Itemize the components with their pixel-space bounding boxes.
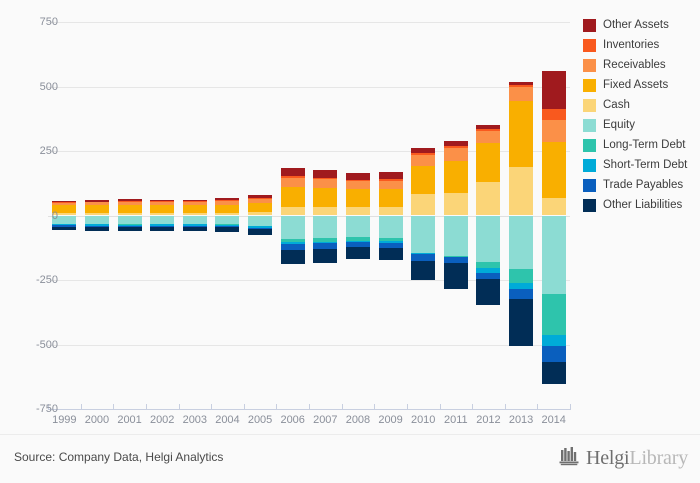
- bar-segment[interactable]: [52, 227, 76, 231]
- x-axis-tick-label: 2014: [541, 414, 565, 426]
- legend-item-label: Cash: [603, 99, 630, 111]
- bar-segment[interactable]: [411, 261, 435, 280]
- x-axis-tick-label: 2008: [346, 414, 370, 426]
- bar-group[interactable]: [411, 22, 435, 409]
- x-axis-tick-label: 2013: [509, 414, 533, 426]
- bar-segment[interactable]: [183, 205, 207, 214]
- bar-segment[interactable]: [281, 187, 305, 207]
- x-axis-tick: [440, 404, 441, 410]
- x-axis: 1999200020012002200320042005200620072008…: [48, 409, 570, 411]
- bar-segment[interactable]: [248, 203, 272, 213]
- bar-segment[interactable]: [346, 181, 370, 189]
- bar-segment[interactable]: [248, 229, 272, 234]
- bar-segment[interactable]: [215, 227, 239, 232]
- stacked-bar[interactable]: [215, 22, 239, 409]
- x-axis-tick: [146, 404, 147, 410]
- x-axis-tick: [374, 404, 375, 410]
- legend-item[interactable]: Equity: [583, 115, 695, 135]
- chart-container: 1999200020012002200320042005200620072008…: [0, 0, 700, 483]
- bar-segment[interactable]: [150, 216, 174, 225]
- x-axis-tick-label: 2002: [150, 414, 174, 426]
- bar-segment[interactable]: [476, 143, 500, 182]
- bar-segment[interactable]: [346, 216, 370, 238]
- x-axis-tick-label: 2001: [117, 414, 141, 426]
- stacked-bar[interactable]: [118, 22, 142, 409]
- x-axis-tick: [407, 404, 408, 410]
- bar-segment[interactable]: [346, 247, 370, 259]
- legend-item[interactable]: Cash: [583, 95, 695, 115]
- legend-item[interactable]: Other Liabilities: [583, 195, 695, 215]
- bar-segment[interactable]: [411, 194, 435, 216]
- bar-segment[interactable]: [476, 131, 500, 143]
- x-axis-tick-label: 2007: [313, 414, 337, 426]
- bar-group[interactable]: [379, 22, 403, 409]
- bar-segment[interactable]: [411, 254, 435, 261]
- bar-segment[interactable]: [379, 248, 403, 260]
- bar-segment[interactable]: [313, 188, 337, 207]
- bar-segment[interactable]: [281, 178, 305, 188]
- x-axis-tick-label: 2004: [215, 414, 239, 426]
- bar-segment[interactable]: [509, 101, 533, 167]
- x-axis-tick-label: 2003: [183, 414, 207, 426]
- source-note: Source: Company Data, Helgi Analytics: [14, 450, 223, 464]
- legend-color-swatch: [583, 19, 596, 32]
- legend-color-swatch: [583, 59, 596, 72]
- bar-segment[interactable]: [476, 216, 500, 263]
- stacked-bar[interactable]: [542, 22, 566, 409]
- stacked-bar[interactable]: [444, 22, 468, 409]
- stacked-bar[interactable]: [313, 22, 337, 409]
- bar-segment[interactable]: [444, 263, 468, 289]
- bar-segment[interactable]: [379, 207, 403, 216]
- bar-group[interactable]: [476, 22, 500, 409]
- x-axis-tick-label: 1999: [52, 414, 76, 426]
- bar-segment[interactable]: [542, 198, 566, 216]
- bar-segment[interactable]: [281, 216, 305, 239]
- bar-segment[interactable]: [313, 207, 337, 215]
- bar-segment[interactable]: [444, 148, 468, 160]
- x-axis-tick: [113, 404, 114, 410]
- x-axis-tick-label: 2012: [476, 414, 500, 426]
- bar-segment[interactable]: [509, 167, 533, 216]
- bar-segment[interactable]: [444, 161, 468, 193]
- brand-name-primary: Helgi: [586, 447, 629, 470]
- legend-item-label: Receivables: [603, 59, 666, 71]
- stacked-bar[interactable]: [346, 22, 370, 409]
- legend-item[interactable]: Long-Term Debt: [583, 135, 695, 155]
- legend-item[interactable]: Other Assets: [583, 15, 695, 35]
- x-axis-tick-label: 2009: [378, 414, 402, 426]
- x-axis-tick: [537, 404, 538, 410]
- x-axis-tick-label: 2006: [280, 414, 304, 426]
- stacked-bar[interactable]: [150, 22, 174, 409]
- bar-segment[interactable]: [542, 335, 566, 346]
- bar-segment[interactable]: [215, 205, 239, 214]
- stacked-bar[interactable]: [183, 22, 207, 409]
- bar-segment[interactable]: [118, 216, 142, 225]
- bar-segment[interactable]: [118, 205, 142, 214]
- legend-item[interactable]: Trade Payables: [583, 175, 695, 195]
- bar-group[interactable]: [542, 22, 566, 409]
- bar-segment[interactable]: [411, 216, 435, 253]
- chart-legend: Other AssetsInventoriesReceivablesFixed …: [583, 15, 695, 215]
- x-axis-tick: [244, 404, 245, 410]
- bar-segment[interactable]: [248, 216, 272, 226]
- bar-group[interactable]: [118, 22, 142, 409]
- legend-item-label: Other Assets: [603, 19, 669, 31]
- bar-segment[interactable]: [542, 216, 566, 295]
- bar-segment[interactable]: [509, 87, 533, 101]
- bar-segment[interactable]: [215, 216, 239, 225]
- bar-segment[interactable]: [346, 189, 370, 207]
- bar-segment[interactable]: [313, 216, 337, 239]
- legend-color-swatch: [583, 199, 596, 212]
- legend-color-swatch: [583, 139, 596, 152]
- bar-segment[interactable]: [346, 207, 370, 215]
- library-logo-icon: [559, 446, 581, 471]
- bar-segment[interactable]: [183, 227, 207, 231]
- bar-group[interactable]: [509, 22, 533, 409]
- x-axis-tick: [211, 404, 212, 410]
- x-axis-tick: [81, 404, 82, 410]
- bar-segment[interactable]: [150, 205, 174, 214]
- x-axis-tick-label: 2000: [85, 414, 109, 426]
- brand-logo: Helgi Library: [559, 446, 688, 471]
- legend-color-swatch: [583, 39, 596, 52]
- bar-segment[interactable]: [313, 179, 337, 188]
- x-axis-tick: [179, 404, 180, 410]
- legend-item-label: Inventories: [603, 39, 659, 51]
- legend-item-label: Other Liabilities: [603, 199, 682, 211]
- legend-color-swatch: [583, 159, 596, 172]
- bar-segment[interactable]: [379, 216, 403, 239]
- bar-segment[interactable]: [509, 299, 533, 347]
- bar-group[interactable]: [313, 22, 337, 409]
- y-axis-tick-label: 250: [0, 145, 58, 157]
- bar-segment[interactable]: [281, 207, 305, 215]
- legend-item[interactable]: Inventories: [583, 35, 695, 55]
- bar-group[interactable]: [444, 22, 468, 409]
- y-axis-tick-label: 750: [0, 16, 58, 28]
- x-axis-tick: [309, 404, 310, 410]
- legend-color-swatch: [583, 79, 596, 92]
- legend-item[interactable]: Receivables: [583, 55, 695, 75]
- bar-segment[interactable]: [542, 71, 566, 110]
- legend-color-swatch: [583, 99, 596, 112]
- bar-segment[interactable]: [85, 205, 109, 214]
- legend-item-label: Equity: [603, 119, 635, 131]
- bar-segment[interactable]: [509, 216, 533, 269]
- legend-color-swatch: [583, 179, 596, 192]
- bar-segment[interactable]: [444, 216, 468, 257]
- x-axis-tick: [276, 404, 277, 410]
- bar-segment[interactable]: [476, 182, 500, 215]
- bar-segment[interactable]: [509, 289, 533, 299]
- x-axis-tick-label: 2010: [411, 414, 435, 426]
- x-axis-tick: [472, 404, 473, 410]
- bar-segment[interactable]: [379, 181, 403, 189]
- bar-group[interactable]: [346, 22, 370, 409]
- bar-segment[interactable]: [183, 216, 207, 225]
- bar-segment[interactable]: [281, 168, 305, 177]
- stacked-bar[interactable]: [509, 22, 533, 409]
- x-axis-tick: [505, 404, 506, 410]
- bar-group[interactable]: [248, 22, 272, 409]
- bar-segment[interactable]: [150, 227, 174, 231]
- stacked-bar[interactable]: [85, 22, 109, 409]
- y-axis-tick-label: -750: [0, 403, 58, 415]
- x-axis-tick: [342, 404, 343, 410]
- bar-group[interactable]: [183, 22, 207, 409]
- bar-segment[interactable]: [411, 166, 435, 194]
- bar-segment[interactable]: [85, 216, 109, 225]
- bar-segment[interactable]: [379, 172, 403, 179]
- bar-segment[interactable]: [411, 155, 435, 167]
- legend-item-label: Short-Term Debt: [603, 159, 687, 171]
- y-axis-tick-label: 0: [0, 210, 58, 222]
- x-axis-tick-label: 2005: [248, 414, 272, 426]
- legend-item-label: Trade Payables: [603, 179, 683, 191]
- y-axis-tick-label: -250: [0, 274, 58, 286]
- bar-segment[interactable]: [444, 193, 468, 216]
- brand-name-secondary: Library: [629, 447, 688, 470]
- stacked-bar[interactable]: [281, 22, 305, 409]
- legend-item[interactable]: Fixed Assets: [583, 75, 695, 95]
- bar-segment[interactable]: [313, 249, 337, 263]
- bar-group[interactable]: [85, 22, 109, 409]
- stacked-bar[interactable]: [248, 22, 272, 409]
- bar-segment[interactable]: [542, 120, 566, 143]
- bar-segment[interactable]: [542, 294, 566, 335]
- plot-area: [48, 22, 570, 409]
- legend-item-label: Fixed Assets: [603, 79, 668, 91]
- bar-segment[interactable]: [542, 109, 566, 119]
- bar-segment[interactable]: [476, 279, 500, 304]
- bar-segment[interactable]: [542, 142, 566, 197]
- x-axis-tick-label: 2011: [444, 414, 468, 426]
- bar-group[interactable]: [281, 22, 305, 409]
- legend-item-label: Long-Term Debt: [603, 139, 685, 151]
- stacked-bar[interactable]: [411, 22, 435, 409]
- y-axis-tick-label: 500: [0, 81, 58, 93]
- bar-group[interactable]: [150, 22, 174, 409]
- bar-segment[interactable]: [313, 170, 337, 178]
- bar-segment[interactable]: [542, 346, 566, 361]
- stacked-bar[interactable]: [476, 22, 500, 409]
- bar-segment[interactable]: [85, 227, 109, 231]
- bar-segment[interactable]: [542, 362, 566, 385]
- bar-segment[interactable]: [118, 227, 142, 231]
- x-axis-tick: [570, 404, 571, 410]
- bar-segment[interactable]: [509, 269, 533, 283]
- bar-group[interactable]: [215, 22, 239, 409]
- bar-segment[interactable]: [379, 189, 403, 207]
- y-axis-tick-label: -500: [0, 339, 58, 351]
- footer-divider: [0, 434, 700, 435]
- bar-segment[interactable]: [281, 250, 305, 264]
- stacked-bar[interactable]: [379, 22, 403, 409]
- legend-item[interactable]: Short-Term Debt: [583, 155, 695, 175]
- legend-color-swatch: [583, 119, 596, 132]
